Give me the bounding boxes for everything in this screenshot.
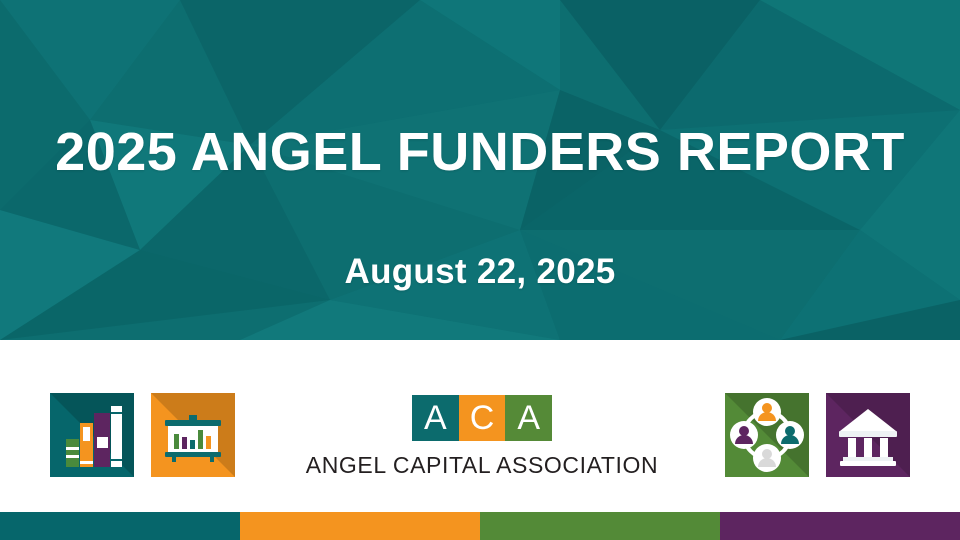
page-title: 2025 ANGEL FUNDERS REPORT (0, 122, 960, 182)
bank-building-icon-glyph (826, 393, 910, 477)
angel-capital-association-logo: A C A ANGEL CAPITAL ASSOCIATION (285, 380, 679, 480)
aca-wordmark: ANGEL CAPITAL ASSOCIATION (285, 452, 679, 478)
people-network-icon-glyph (725, 393, 809, 477)
brand-color-bar (0, 512, 960, 540)
books-icon (50, 393, 134, 477)
aca-letter-a2: A (505, 395, 552, 441)
presentation-slide: 2025 ANGEL FUNDERS REPORT August 22, 202… (0, 0, 960, 540)
presentation-chart-icon (151, 393, 235, 477)
color-segment-green (480, 512, 720, 540)
people-network-icon (725, 393, 809, 477)
aca-letter-a1: A (412, 395, 459, 441)
aca-letter-c: C (459, 395, 506, 441)
color-segment-purple (720, 512, 960, 540)
aca-letter-blocks: A C A (412, 395, 552, 441)
bank-building-icon (826, 393, 910, 477)
books-icon-glyph (50, 393, 134, 477)
page-subtitle-date: August 22, 2025 (0, 251, 960, 293)
color-segment-teal (0, 512, 240, 540)
logo-band: A C A ANGEL CAPITAL ASSOCIATION (0, 340, 960, 512)
presentation-chart-icon-glyph (151, 393, 235, 477)
hero-banner: 2025 ANGEL FUNDERS REPORT August 22, 202… (0, 0, 960, 340)
color-segment-orange (240, 512, 480, 540)
